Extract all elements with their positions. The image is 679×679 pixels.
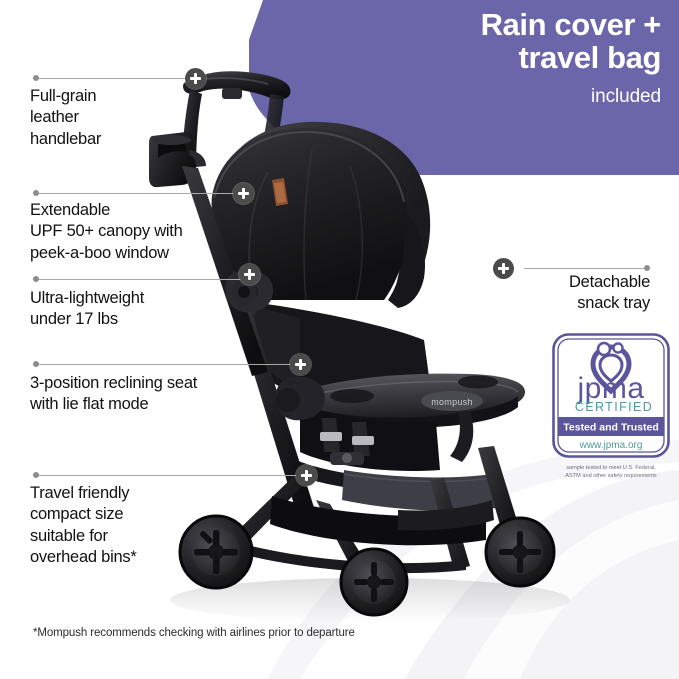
- jpma-website: www.jpma.org: [579, 440, 643, 451]
- plus-marker-recline[interactable]: [290, 354, 311, 375]
- callout-snack-tray-text: Detachable snack tray: [470, 272, 650, 315]
- callout-lightweight-text: Ultra-lightweight under 17 lbs: [30, 288, 240, 331]
- plus-marker-canopy[interactable]: [233, 183, 254, 204]
- jpma-certified-word: CERTIFIED: [575, 400, 653, 414]
- callout-compact: Travel friendly compact size suitable fo…: [30, 483, 230, 569]
- promo-banner-subtitle: included: [321, 86, 661, 108]
- callout-reclining-seat: 3-position reclining seat with lie flat …: [30, 373, 280, 416]
- leader-line-lightweight: [33, 274, 248, 285]
- callout-canopy-text: Extendable UPF 50+ canopy with peek-a-bo…: [30, 200, 240, 264]
- jpma-fine-print-line2: ASTM and other safety requirements: [565, 473, 657, 479]
- plus-marker-tray[interactable]: [493, 258, 514, 279]
- jpma-tagline: Tested and Trusted: [563, 422, 659, 434]
- svg-text:mompush: mompush: [431, 397, 473, 407]
- promo-banner-title: Rain cover + travel bag: [321, 8, 661, 75]
- plus-marker-handlebar[interactable]: [185, 68, 206, 89]
- leader-line-compact: [33, 470, 308, 481]
- callout-compact-text: Travel friendly compact size suitable fo…: [30, 483, 230, 569]
- leader-line-handlebar: [33, 73, 195, 84]
- callout-reclining-seat-text: 3-position reclining seat with lie flat …: [30, 373, 280, 416]
- leader-line-recline: [33, 359, 301, 370]
- infographic-canvas: Rain cover + travel bag included: [0, 0, 679, 679]
- callout-lightweight: Ultra-lightweight under 17 lbs: [30, 288, 240, 331]
- callout-canopy: Extendable UPF 50+ canopy with peek-a-bo…: [30, 200, 240, 264]
- footnote-text: *Mompush recommends checking with airlin…: [33, 627, 355, 639]
- callout-snack-tray: Detachable snack tray: [470, 272, 650, 315]
- plus-marker-compact[interactable]: [296, 465, 317, 486]
- plus-marker-lightweight[interactable]: [239, 264, 260, 285]
- jpma-fine-print-line1: sample tested to meet U.S. Federal,: [566, 465, 656, 471]
- callout-handlebar: Full-grain leather handlebar: [30, 86, 215, 150]
- callout-handlebar-text: Full-grain leather handlebar: [30, 86, 215, 150]
- leader-line-canopy: [33, 188, 241, 199]
- promo-banner-text: Rain cover + travel bag included: [321, 8, 661, 108]
- jpma-certified-badge: jpma CERTIFIED Tested and Trusted www.jp…: [552, 333, 670, 488]
